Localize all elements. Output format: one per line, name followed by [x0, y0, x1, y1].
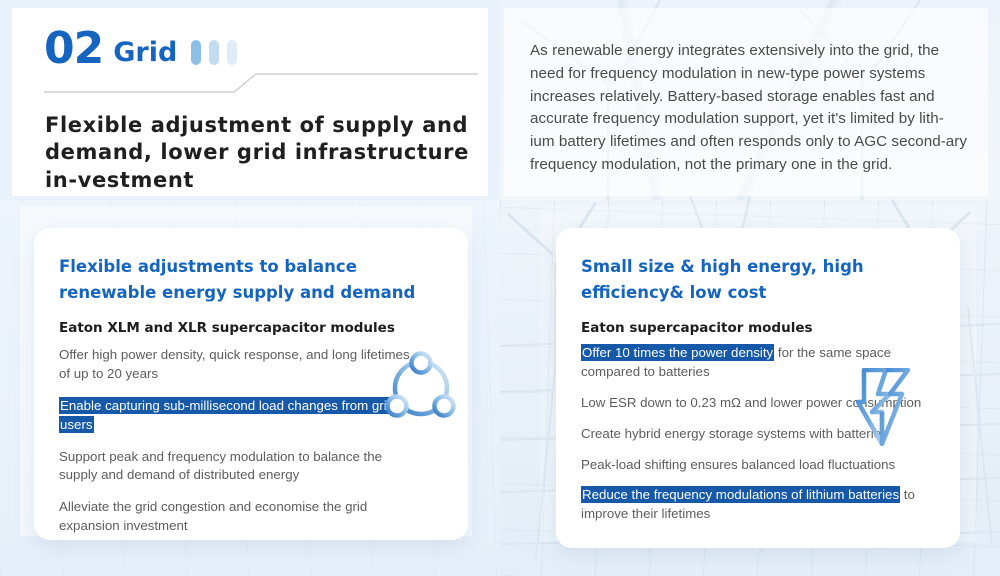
card-bullet: Enable capturing sub-millisecond load ch…	[59, 397, 419, 435]
decorative-bar-3	[227, 40, 237, 65]
section-label: Grid	[113, 38, 177, 70]
card-subtitle: Eaton XLM and XLR supercapacitor modules	[59, 320, 419, 336]
bullet-highlight: Offer 10 times the power density	[581, 344, 774, 361]
card-bullet: Offer high power density, quick response…	[59, 346, 419, 384]
card-title: Small size & high energy, high efficienc…	[581, 254, 931, 305]
card-bullet: Reduce the frequency modulations of lith…	[581, 486, 941, 524]
lightning-bolt-icon	[856, 368, 916, 446]
intro-paragraph: As renewable energy integrates extensive…	[530, 40, 968, 177]
card-bullet: Peak-load shifting ensures balanced load…	[581, 456, 941, 475]
card-title: Flexible adjustments to balance renewabl…	[59, 254, 429, 305]
bullet-text: Create hybrid energy storage systems wit…	[581, 426, 888, 441]
decorative-bar-1	[191, 40, 201, 65]
stepped-divider	[44, 70, 478, 96]
bullet-text: Peak-load shifting ensures balanced load…	[581, 457, 895, 472]
bullet-text: Offer high power density, quick response…	[59, 347, 410, 381]
bullet-highlight: Reduce the frequency modulations of lith…	[581, 486, 900, 503]
decorative-bar-2	[209, 40, 219, 65]
network-nodes-icon	[382, 350, 460, 428]
section-number: 02	[44, 28, 103, 70]
card-bullet: Alleviate the grid congestion and econom…	[59, 498, 419, 536]
section-header: 02 Grid	[44, 28, 237, 70]
page-title: Flexible adjustment of supply and demand…	[45, 112, 483, 194]
slide-root: 02 Grid Flexible adjustment of supply an…	[0, 0, 1000, 576]
decorative-bars	[191, 40, 237, 70]
card-small-size-high-energy[interactable]: Small size & high energy, high efficienc…	[556, 228, 960, 548]
bullet-text: Alleviate the grid congestion and econom…	[59, 499, 367, 533]
card-bullet-list: Offer high power density, quick response…	[59, 346, 419, 549]
title-panel: 02 Grid Flexible adjustment of supply an…	[12, 8, 488, 196]
bullet-highlight: Enable capturing sub-millisecond load ch…	[59, 397, 395, 433]
card-bullet: Support peak and frequency modulation to…	[59, 448, 419, 486]
card-flexible-adjustments[interactable]: Flexible adjustments to balance renewabl…	[34, 228, 468, 540]
card-subtitle: Eaton supercapacitor modules	[581, 320, 941, 336]
bullet-text: Support peak and frequency modulation to…	[59, 449, 382, 483]
